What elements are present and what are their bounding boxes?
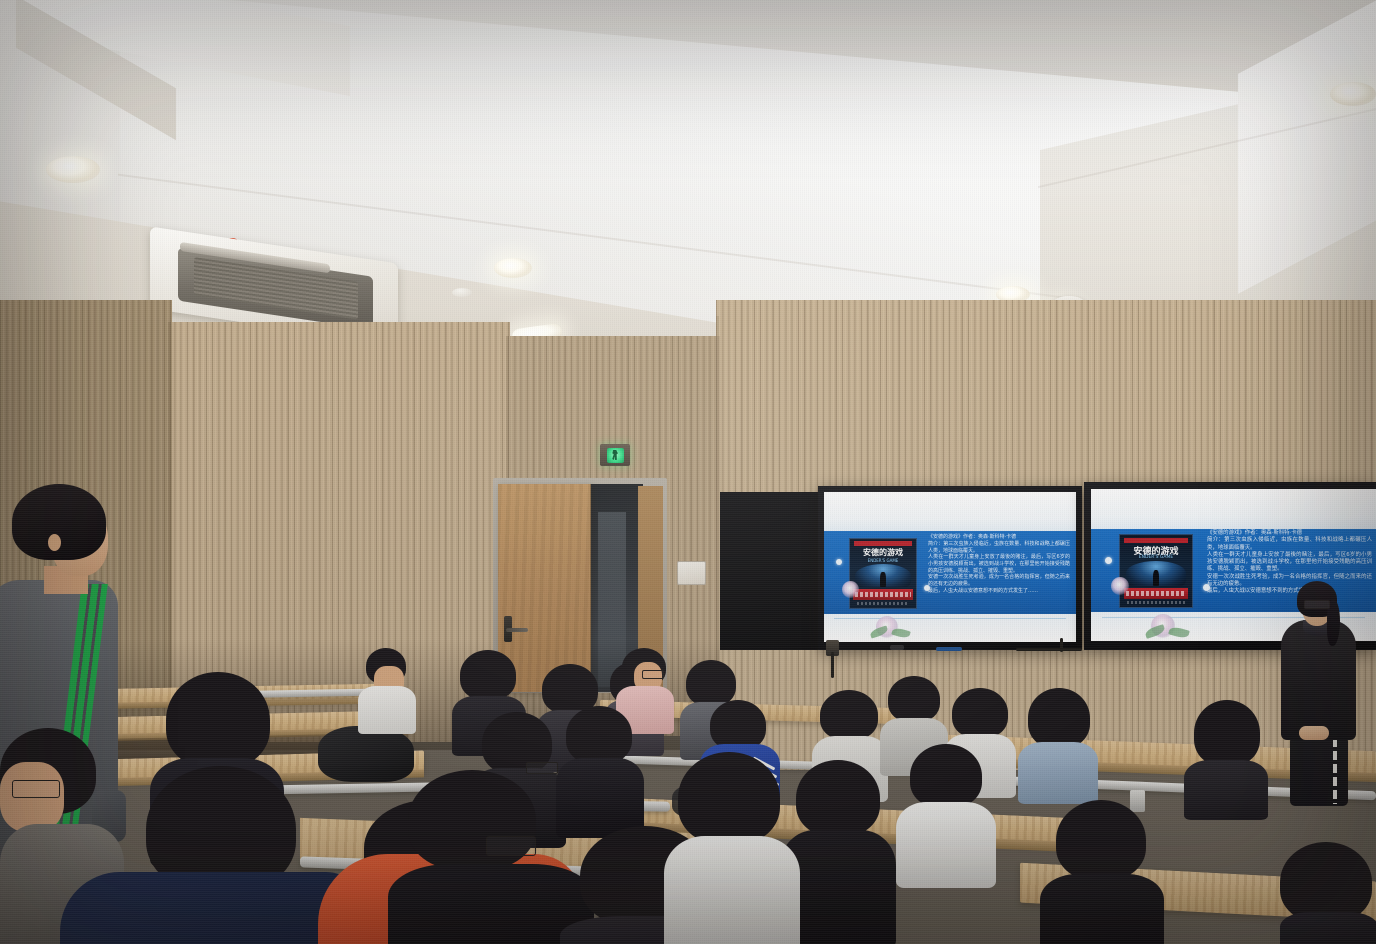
power-cable [831, 652, 834, 678]
book-title: 安德的游戏 [850, 547, 916, 558]
tv-brand-logo [936, 647, 962, 651]
glasses-icon [642, 670, 664, 679]
slide-left: 好书推荐 安德的游戏 ENDER'S GAME [824, 492, 1076, 642]
lecture-hall-photo: 好书推荐 安德的游戏 ENDER'S GAME [0, 0, 1376, 944]
leaf-icon [891, 627, 911, 640]
flower-icon [1111, 577, 1129, 595]
glasses-icon [486, 836, 536, 856]
book-subtitle: ENDER'S GAME [850, 558, 916, 563]
leaf-icon [1168, 625, 1190, 639]
book-cover-left: 安德的游戏 ENDER'S GAME [849, 538, 917, 609]
student-row3-d [1184, 700, 1266, 806]
student-row1-whitetee [664, 752, 796, 944]
wall-black-panel [720, 492, 828, 650]
hdmi-cable [1016, 648, 1082, 651]
downlight-icon [494, 258, 532, 278]
downlight-icon [46, 156, 100, 183]
student-row1-navy [60, 766, 360, 944]
exit-sign-icon [607, 448, 624, 463]
tv-ir-sensor [890, 645, 904, 650]
smoke-detector-icon [452, 288, 472, 297]
student-row1-far-right [1280, 842, 1376, 944]
student-row1-black [388, 770, 588, 944]
slide-text-right: 《安德的游戏》作者：奥森·斯科特·卡德 简介：第三次虫族入侵临近，虫族在数量、科… [1207, 530, 1372, 595]
student-row2-white [896, 744, 992, 874]
book-subtitle: ENDER'S GAME [1120, 555, 1192, 560]
downlight-icon [1330, 82, 1376, 106]
slide-text-left: 《安德的游戏》作者：奥森·斯科特·卡德 简介：第三次虫族入侵临近，虫族在数量、科… [928, 534, 1070, 594]
book-cover-right: 安德的游戏 ENDER'S GAME [1119, 534, 1193, 608]
glasses-icon [12, 780, 60, 798]
left-display-screen[interactable]: 好书推荐 安德的游戏 ENDER'S GAME [818, 486, 1082, 650]
flower-icon [842, 581, 859, 598]
student-row3-c [1018, 688, 1096, 794]
student-row1-right [1040, 800, 1160, 944]
exit-sign [600, 444, 630, 466]
bullet-icon [1105, 557, 1112, 564]
glasses-icon [1304, 600, 1330, 609]
wall-control-panel[interactable] [677, 561, 706, 585]
student-row4-white [358, 648, 414, 726]
bullet-icon [836, 559, 842, 565]
door-handle[interactable] [506, 628, 528, 632]
hdmi-cable [1060, 638, 1063, 652]
